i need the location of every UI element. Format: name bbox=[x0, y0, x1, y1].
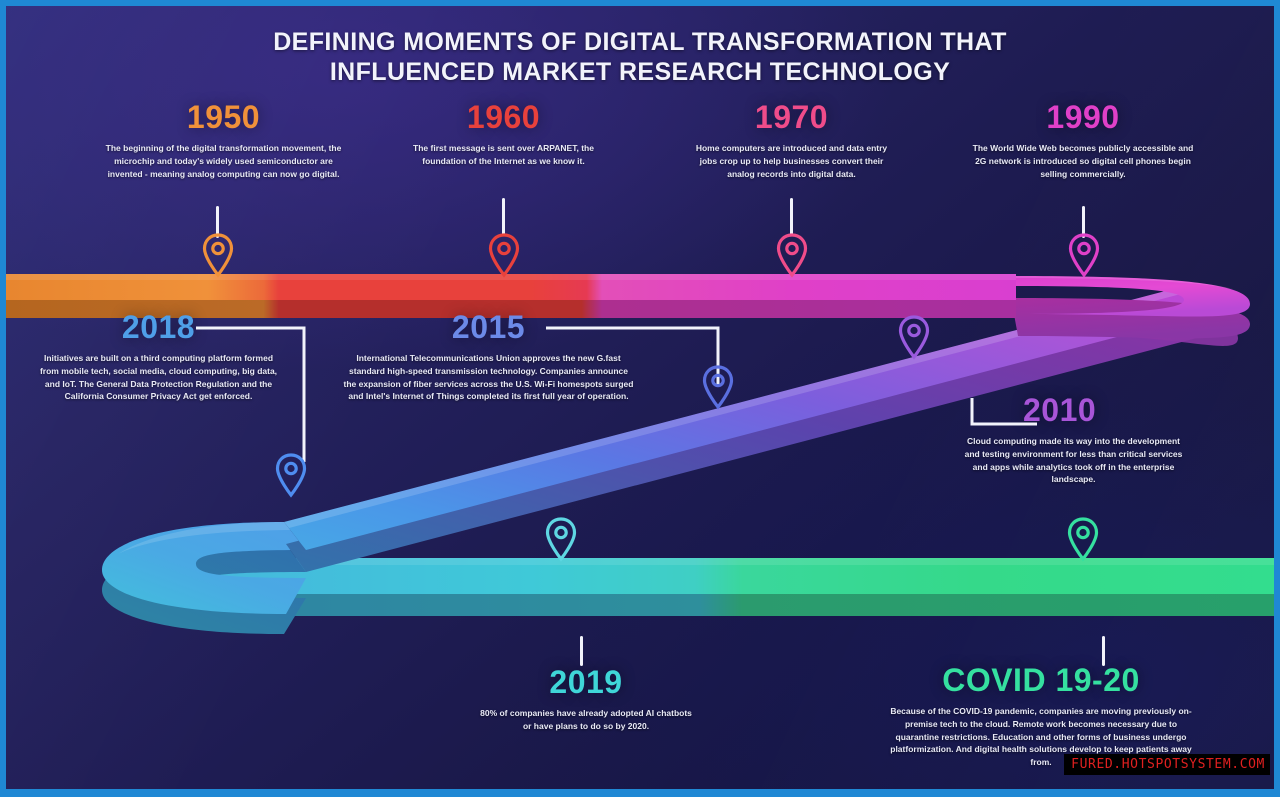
ribbon-left-curve bbox=[102, 522, 306, 634]
map-pin-2010[interactable] bbox=[899, 316, 933, 358]
event-1960[interactable]: 1960 The first message is sent over ARPA… bbox=[391, 101, 616, 168]
infographic-frame: DEFINING MOMENTS OF DIGITAL TRANSFORMATI… bbox=[0, 0, 1280, 797]
event-1970-description: Home computers are introduced and data e… bbox=[674, 142, 909, 180]
map-pin-2018[interactable] bbox=[276, 454, 310, 496]
event-2010-year: 2010 bbox=[1023, 394, 1196, 426]
event-1970[interactable]: 1970 Home computers are introduced and d… bbox=[674, 101, 909, 180]
elbow-connector-2010 bbox=[969, 398, 1039, 430]
event-1990-year: 1990 bbox=[958, 101, 1208, 133]
stem-2019 bbox=[580, 636, 583, 666]
event-2019[interactable]: 2019 80% of companies have already adopt… bbox=[446, 666, 726, 733]
map-pin-1970[interactable] bbox=[777, 234, 811, 276]
infographic-canvas: DEFINING MOMENTS OF DIGITAL TRANSFORMATI… bbox=[6, 6, 1274, 789]
event-2010-description: Cloud computing made its way into the de… bbox=[951, 435, 1196, 486]
page-title: DEFINING MOMENTS OF DIGITAL TRANSFORMATI… bbox=[6, 28, 1274, 87]
event-1990-description: The World Wide Web becomes publicly acce… bbox=[958, 142, 1208, 180]
event-1960-year: 1960 bbox=[391, 101, 616, 133]
stem-1960 bbox=[502, 198, 505, 236]
event-1950-year: 1950 bbox=[81, 101, 366, 133]
stem-covid bbox=[1102, 636, 1105, 666]
elbow-connector-2015 bbox=[546, 324, 726, 388]
ribbon-right-curve bbox=[1006, 276, 1250, 346]
ribbon-bottom-band bbox=[211, 558, 1274, 616]
event-2019-description: 80% of companies have already adopted AI… bbox=[446, 707, 726, 733]
elbow-connector-2018 bbox=[196, 324, 311, 464]
event-1950[interactable]: 1950 The beginning of the digital transf… bbox=[81, 101, 366, 180]
map-pin-1990[interactable] bbox=[1069, 234, 1103, 276]
event-covid-year: COVID 19-20 bbox=[876, 664, 1206, 696]
event-1960-description: The first message is sent over ARPANET, … bbox=[391, 142, 616, 168]
map-pin-2015[interactable] bbox=[703, 366, 737, 408]
watermark: FURED.HOTSPOTSYSTEM.COM bbox=[1064, 754, 1270, 775]
map-pin-1950[interactable] bbox=[203, 234, 237, 276]
map-pin-2019[interactable] bbox=[546, 518, 580, 560]
stem-1970 bbox=[790, 198, 793, 236]
event-1990[interactable]: 1990 The World Wide Web becomes publicly… bbox=[958, 101, 1208, 180]
event-1950-description: The beginning of the digital transformat… bbox=[81, 142, 366, 180]
map-pin-1960[interactable] bbox=[489, 234, 523, 276]
event-1970-year: 1970 bbox=[674, 101, 909, 133]
map-pin-covid[interactable] bbox=[1068, 518, 1102, 560]
event-2019-year: 2019 bbox=[446, 666, 726, 698]
